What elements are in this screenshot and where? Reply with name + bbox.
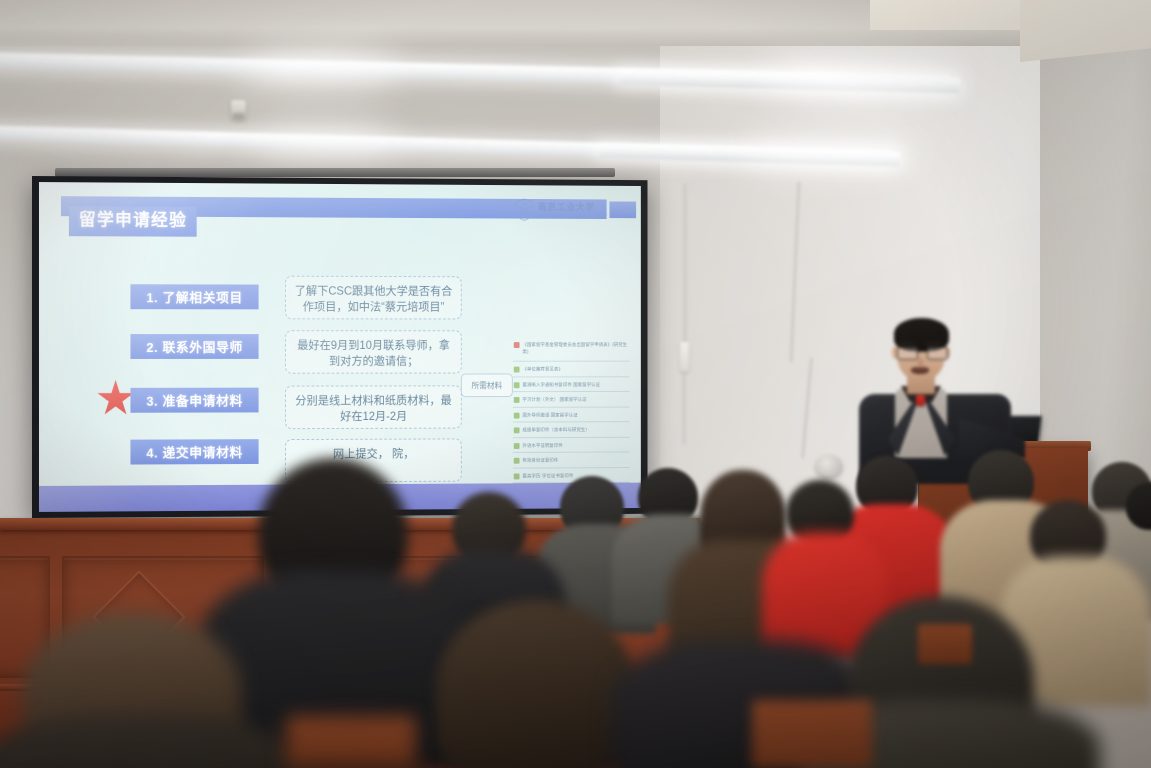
logo-name-cn: 南京工业大学 bbox=[538, 203, 609, 212]
presenter-badge bbox=[916, 395, 925, 406]
university-shield-icon bbox=[515, 198, 534, 222]
bullet-icon bbox=[514, 367, 520, 373]
slide-header-accent-block bbox=[609, 201, 636, 218]
screen-roller-casing bbox=[55, 168, 615, 177]
checklist-row: 成绩单复印件（含本科与研究生） bbox=[513, 424, 630, 438]
light-glow-d bbox=[740, 138, 920, 168]
materials-checklist: 《国家留学基金管理委员会出国留学申请表》(研究生类) 《单位推荐意见表》 最清晰… bbox=[513, 340, 630, 485]
bullet-icon bbox=[514, 443, 520, 449]
hanging-cable-left bbox=[684, 184, 686, 344]
light-glow-c bbox=[250, 126, 400, 156]
slide-detail-1: 了解下CSC跟其他大学是否有合作项目，如中法“蔡元培项目” bbox=[285, 276, 462, 320]
glasses-lens-left bbox=[897, 347, 918, 360]
light-glow-a bbox=[240, 52, 400, 86]
auditorium-seat bbox=[286, 716, 416, 768]
slide-detail-3: 分别是线上材料和纸质材料，最好在12月-2月 bbox=[285, 385, 462, 429]
presenter-nose bbox=[917, 355, 924, 365]
bullet-icon bbox=[514, 382, 520, 388]
presenter-brow-left bbox=[899, 342, 916, 345]
checklist-row: 《单位推荐意见表》 bbox=[513, 363, 630, 377]
materials-label: 所需材料 bbox=[461, 373, 513, 397]
star-marker-icon bbox=[97, 380, 135, 418]
slide-step-1: 1. 了解相关项目 bbox=[130, 284, 258, 309]
checklist-row: 国外导师邀请 国家留学认证 bbox=[513, 408, 630, 422]
bullet-icon bbox=[514, 412, 520, 418]
auditorium-seat bbox=[918, 624, 972, 664]
bullet-icon bbox=[514, 342, 520, 348]
slide-step-2: 2. 联系外国导师 bbox=[130, 334, 258, 359]
checklist-row: 最清晰入学通知书复印件 国家留学认证 bbox=[513, 378, 630, 392]
page-title: 留学申请经验 bbox=[69, 206, 197, 237]
slide-detail-2: 最好在9月到10月联系导师，拿到对方的邀请信； bbox=[285, 330, 462, 374]
presenter-mouth bbox=[911, 367, 929, 374]
slide-step-4: 4. 递交申请材料 bbox=[130, 439, 258, 464]
glasses-lens-right bbox=[927, 347, 948, 360]
presenter-brow-right bbox=[925, 342, 942, 345]
checklist-row: 最高学历·学位证书复印件 bbox=[513, 469, 630, 483]
slide-step-3: 3. 准备申请材料 bbox=[130, 388, 258, 413]
bullet-icon bbox=[514, 397, 520, 403]
checklist-row: 有效身份证复印件 bbox=[513, 454, 630, 468]
checklist-row: 学习计划（外文） 国家留学认证 bbox=[513, 393, 630, 407]
auditorium-seat bbox=[752, 700, 872, 768]
light-glow-b bbox=[760, 62, 960, 96]
bullet-icon bbox=[514, 458, 520, 464]
smoke-detector-icon bbox=[231, 100, 246, 120]
audience-head-foreground bbox=[436, 600, 636, 768]
bullet-icon bbox=[514, 427, 520, 433]
wall-speaker-icon bbox=[816, 455, 842, 477]
wall-switch-box bbox=[680, 342, 689, 372]
hanging-cable-left-lower bbox=[683, 372, 685, 444]
glasses-bridge bbox=[916, 351, 927, 352]
logo-name-en: NANJING TECH UNIVERSITY bbox=[538, 213, 609, 217]
checklist-row: 外语水平证明复印件 bbox=[513, 439, 630, 453]
checklist-row: 《国家留学基金管理委员会出国留学申请表》(研究生类) bbox=[513, 340, 630, 362]
lecture-hall-photo: 留学申请经验 南京工业大学 NANJING TECH UNIVERSITY 1.… bbox=[0, 0, 1151, 768]
bullet-icon bbox=[514, 473, 520, 479]
university-logo: 南京工业大学 NANJING TECH UNIVERSITY bbox=[515, 198, 609, 222]
